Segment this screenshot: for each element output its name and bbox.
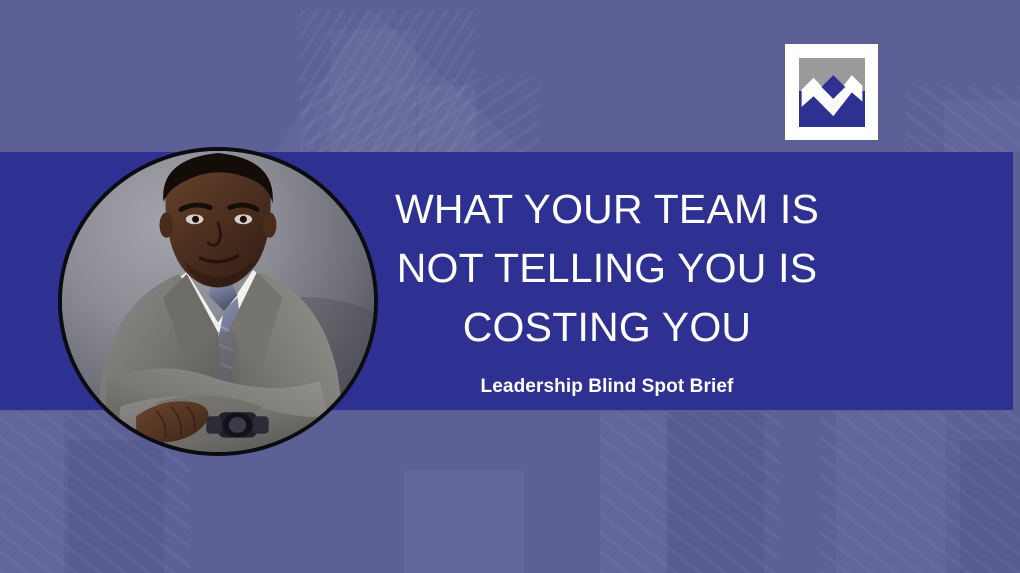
logo-inner-square xyxy=(799,58,865,127)
logo-chevron-icon xyxy=(799,58,865,124)
portrait-illustration xyxy=(62,151,374,452)
texture-building-c xyxy=(944,100,1020,152)
company-logo[interactable] xyxy=(785,44,878,140)
slide-canvas: WHAT YOUR TEAM IS NOT TELLING YOU IS COS… xyxy=(0,0,1020,573)
subtitle: Leadership Blind Spot Brief xyxy=(386,376,828,398)
texture-building-a xyxy=(330,30,416,152)
headline-line-1: WHAT YOUR TEAM IS xyxy=(386,180,828,239)
texture-building-j xyxy=(404,470,524,573)
headline-line-2: NOT TELLING YOU IS xyxy=(386,239,828,298)
texture-building-b xyxy=(418,86,476,152)
texture-stripes-e xyxy=(600,412,780,573)
headline-line-3: COSTING YOU xyxy=(386,298,828,357)
texture-building-i xyxy=(960,440,1020,573)
speaker-portrait xyxy=(58,147,378,456)
headline: WHAT YOUR TEAM IS NOT TELLING YOU IS COS… xyxy=(386,180,828,357)
